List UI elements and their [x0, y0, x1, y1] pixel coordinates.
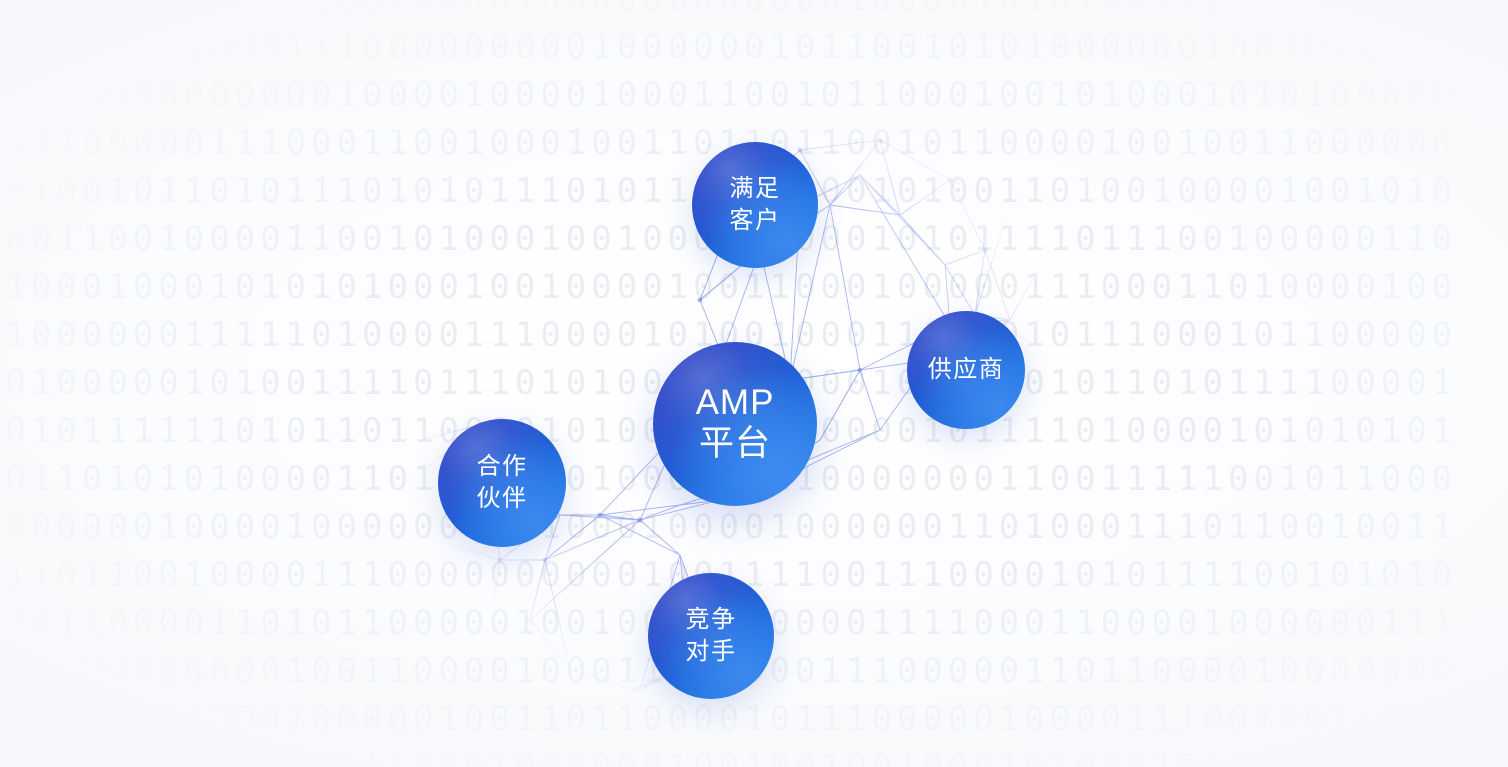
binary-row: 0000110101000001110010000001001001001000…: [0, 750, 1457, 767]
node-customers-label: 满足 客户: [730, 173, 781, 238]
binary-row: 1000000100001000000011100010000100000011…: [0, 510, 1457, 544]
binary-row: 0001000000001110000000001000000101100101…: [0, 30, 1457, 64]
node-competitors-label: 竞争 对手: [686, 604, 737, 669]
node-suppliers[interactable]: 供应商: [907, 311, 1025, 429]
node-partners[interactable]: 合作 伙伴: [438, 419, 566, 547]
binary-row: 0001100010001000001001101100001011100000…: [0, 702, 1457, 736]
binary-row: 0100010001010101000100100001001100010000…: [0, 270, 1457, 304]
center-node-amp-platform[interactable]: AMP 平台: [653, 342, 817, 506]
ecosystem-diagram-canvas: 0100110100001100100001000000000000100001…: [0, 0, 1508, 767]
node-competitors[interactable]: 竞争 对手: [648, 573, 774, 699]
binary-row: 1011000000000010000100001000110010110001…: [0, 78, 1457, 112]
binary-row: 0100110100001100100001000000000000100001…: [0, 0, 1457, 16]
node-partners-label: 合作 伙伴: [477, 451, 528, 516]
node-suppliers-label: 供应商: [928, 354, 1005, 386]
node-customers[interactable]: 满足 客户: [692, 142, 818, 268]
center-node-label: AMP 平台: [696, 383, 775, 464]
